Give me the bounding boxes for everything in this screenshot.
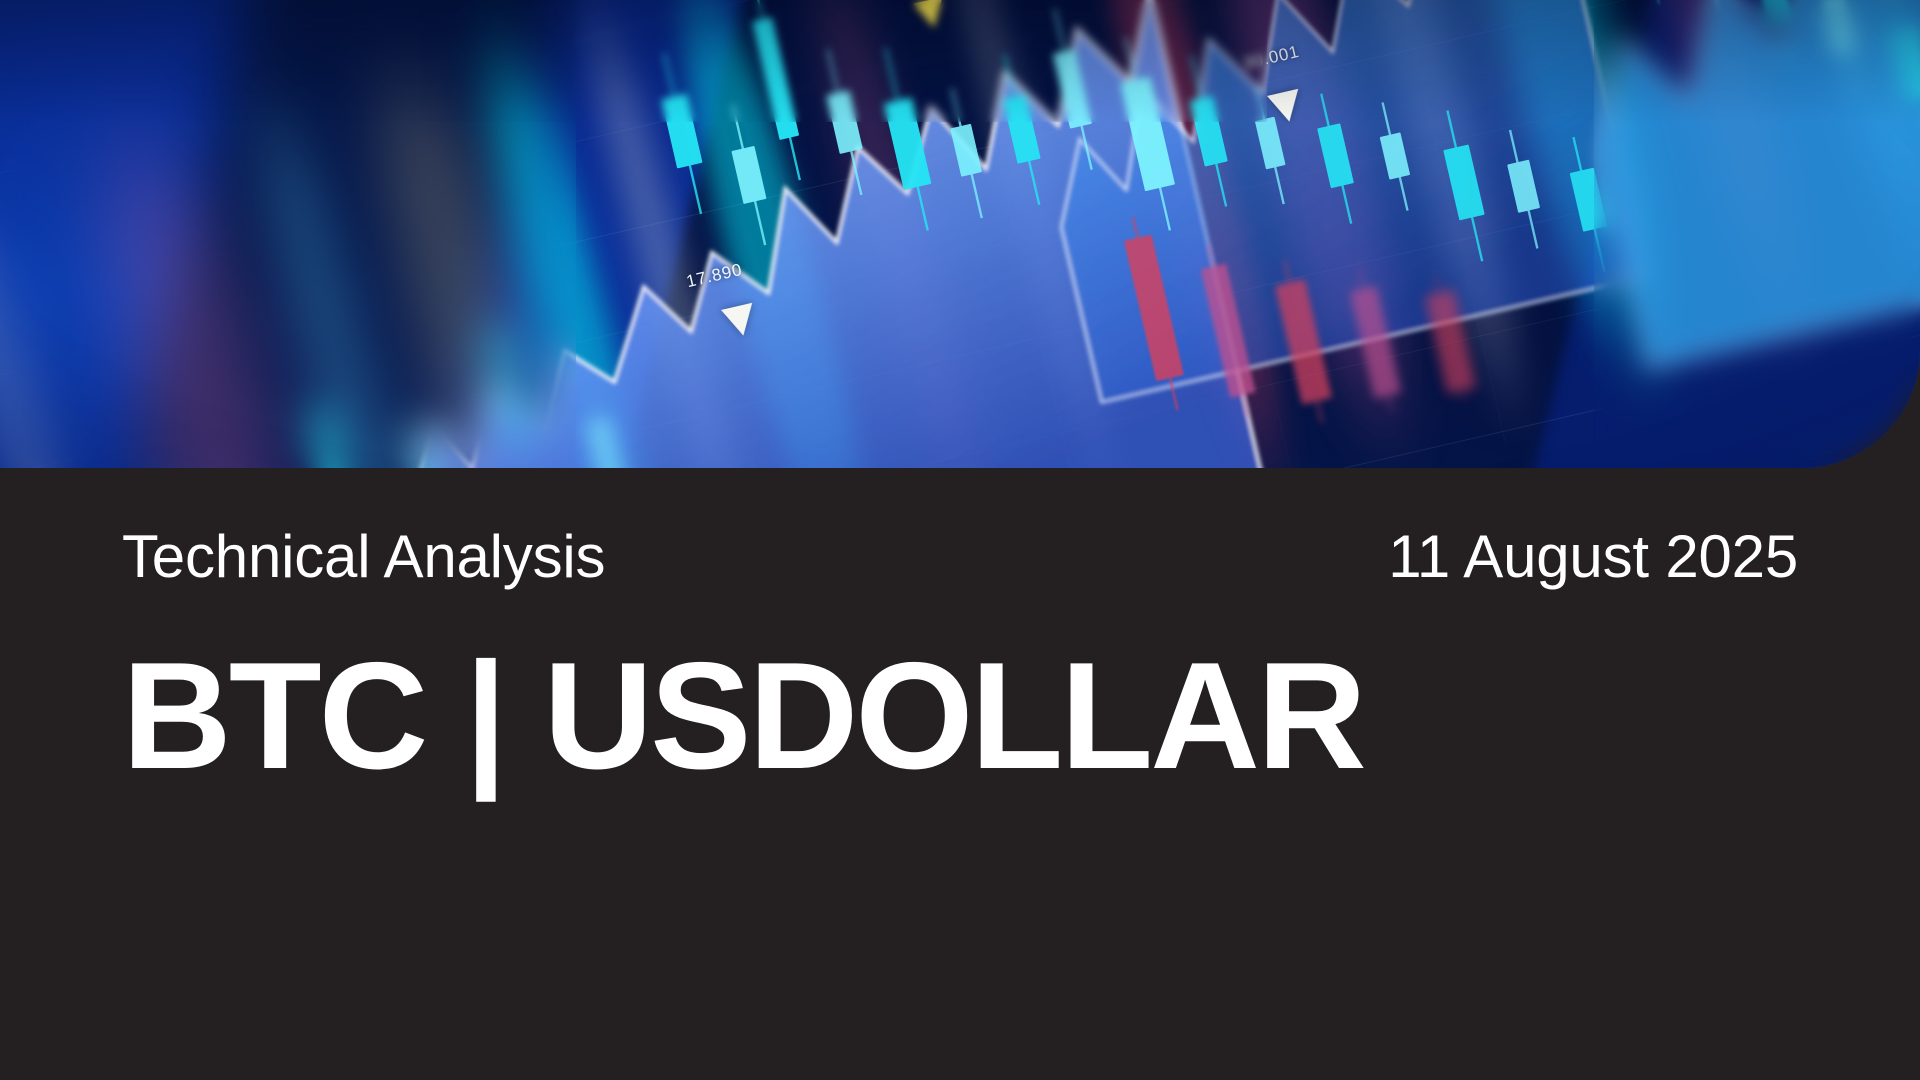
hero-artwork: 30.00117.89013.7983 <box>0 0 1920 468</box>
hero-banner-image: 30.00117.89013.7983 <box>0 0 1920 468</box>
page-title: BTC | USDOLLAR <box>122 640 1364 792</box>
publish-date: 11 August 2025 <box>1388 527 1798 587</box>
slide-root: 30.00117.89013.7983 Technical Analysis 1… <box>0 0 1920 1080</box>
header-row: Technical Analysis 11 August 2025 <box>122 522 1798 592</box>
page-kicker: Technical Analysis <box>122 527 605 587</box>
hero-vignette <box>0 0 1920 468</box>
